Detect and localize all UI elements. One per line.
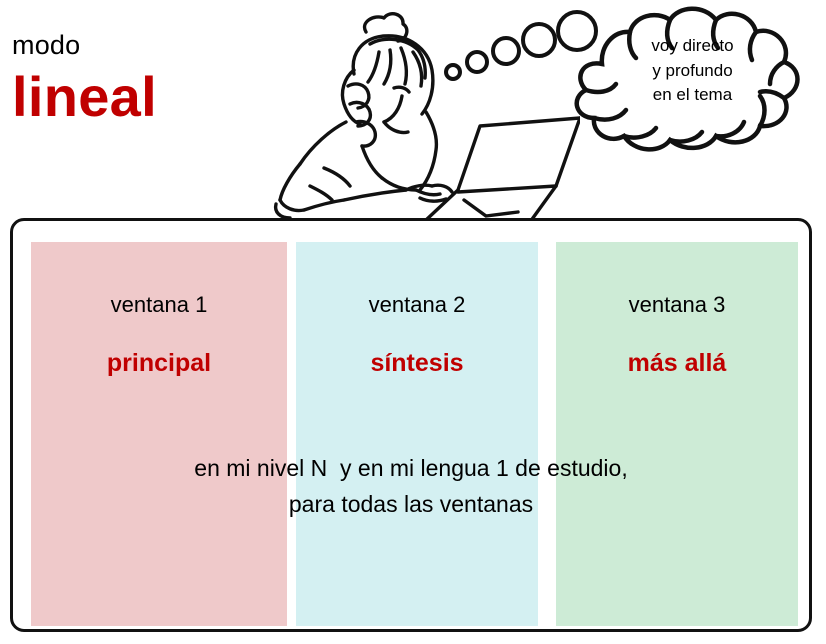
windows-panels: ventana 1 principal ventana 2 síntesis v… [13,221,809,629]
window-3-label: ventana 3 [556,292,798,318]
thought-line-3: en el tema [600,83,785,108]
windows-box: ventana 1 principal ventana 2 síntesis v… [10,218,812,632]
thought-line-1: voy directo [600,34,785,59]
window-2-title: síntesis [296,349,538,378]
thought-cloud-text: voy directo y profundo en el tema [600,34,785,108]
window-2-label: ventana 2 [296,292,538,318]
window-3-title: más allá [556,349,798,378]
window-1-title: principal [31,349,287,378]
title-block: modo lineal [12,32,262,127]
thought-line-2: y profundo [600,59,785,84]
mode-value: lineal [12,68,262,127]
window-panel-1[interactable]: ventana 1 principal [31,242,287,626]
window-panel-3[interactable]: ventana 3 más allá [556,242,798,626]
mode-label: modo [12,32,262,59]
window-1-label: ventana 1 [31,292,287,318]
window-panel-2[interactable]: ventana 2 síntesis [296,242,538,626]
